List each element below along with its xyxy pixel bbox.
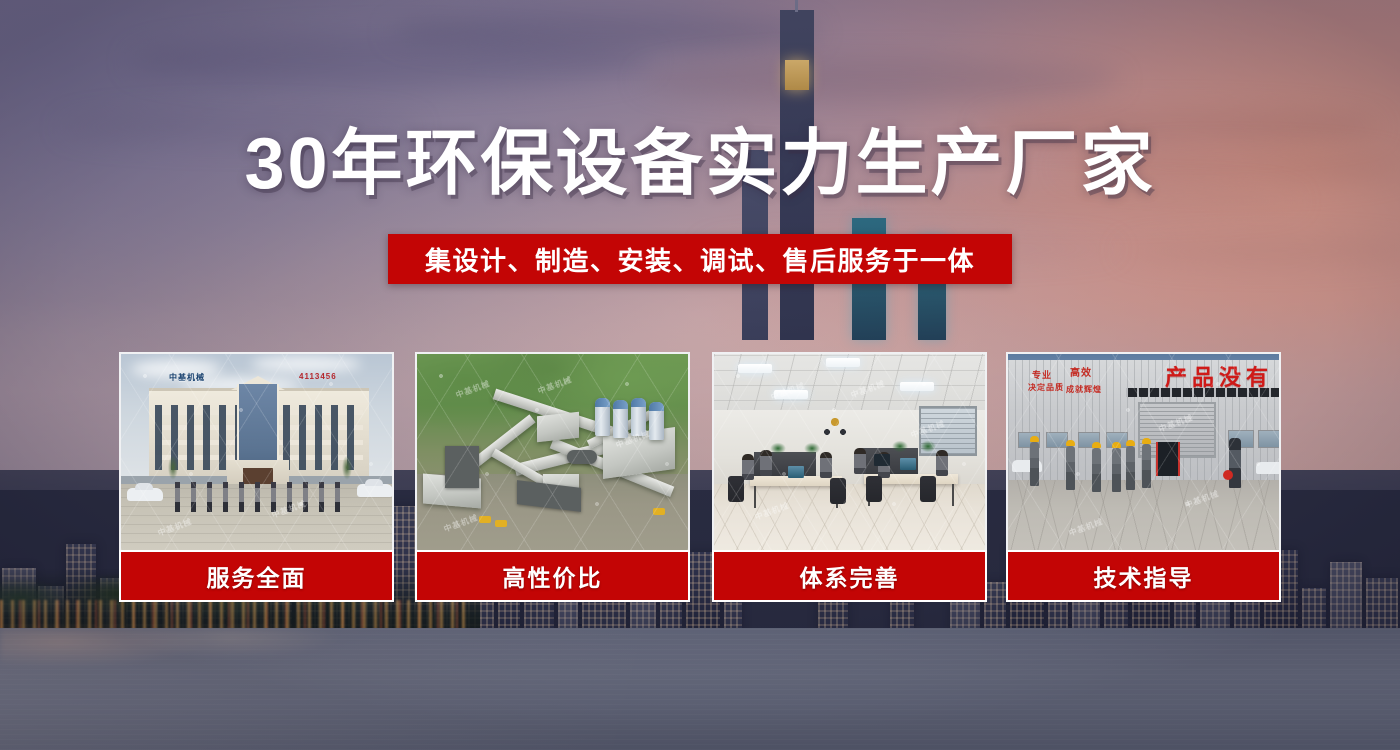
factory-wall-slogan-left-3: 决定品质 [1028,382,1064,393]
card-caption-text: 技术指导 [1094,559,1194,593]
card-caption-text: 服务全面 [207,559,307,593]
photo-building-phone: 4113456 [299,372,337,381]
card-caption: 服务全面 [119,550,394,602]
card-photo-office-building: 中基机械 4113456 中基机械 中基机械 [119,352,394,550]
factory-wall-slogan-left-2: 高效 [1070,364,1092,379]
feature-card-row: 中基机械 4113456 中基机械 中基机械 [119,352,1281,602]
factory-wall-slogan-left-4: 成就辉煌 [1066,384,1102,395]
factory-wall-slogan-left-1: 专业 [1032,368,1052,381]
banner-headline: 30年环保设备实力生产厂家 [0,128,1400,200]
feature-card-value[interactable]: 中基机械 中基机械 中基机械 中基机械 高性价比 [415,352,690,602]
feature-card-system[interactable]: 中基机械 中基机械 中基机械 中基机械 体系完善 [712,352,987,602]
feature-card-training[interactable]: 产品没有 专业 高效 决定品质 成就辉煌 [1006,352,1281,602]
card-photo-aerial-plant: 中基机械 中基机械 中基机械 中基机械 [415,352,690,550]
feature-card-service[interactable]: 中基机械 4113456 中基机械 中基机械 [119,352,394,602]
photo-building-sign: 中基机械 [169,372,205,383]
banner-subtitle-text: 集设计、制造、安装、调试、售后服务于一体 [425,241,975,278]
card-caption-text: 高性价比 [503,559,603,593]
card-caption: 高性价比 [415,550,690,602]
river-light-reflection [0,628,420,698]
card-caption: 体系完善 [712,550,987,602]
card-photo-office-interior: 中基机械 中基机械 中基机械 中基机械 [712,352,987,550]
banner-subtitle-bar: 集设计、制造、安装、调试、售后服务于一体 [388,234,1012,284]
card-caption: 技术指导 [1006,550,1281,602]
hero-banner: 30年环保设备实力生产厂家 集设计、制造、安装、调试、售后服务于一体 中基机械 … [0,0,1400,750]
card-photo-factory-workers: 产品没有 专业 高效 决定品质 成就辉煌 [1006,352,1281,550]
card-caption-text: 体系完善 [800,559,900,593]
